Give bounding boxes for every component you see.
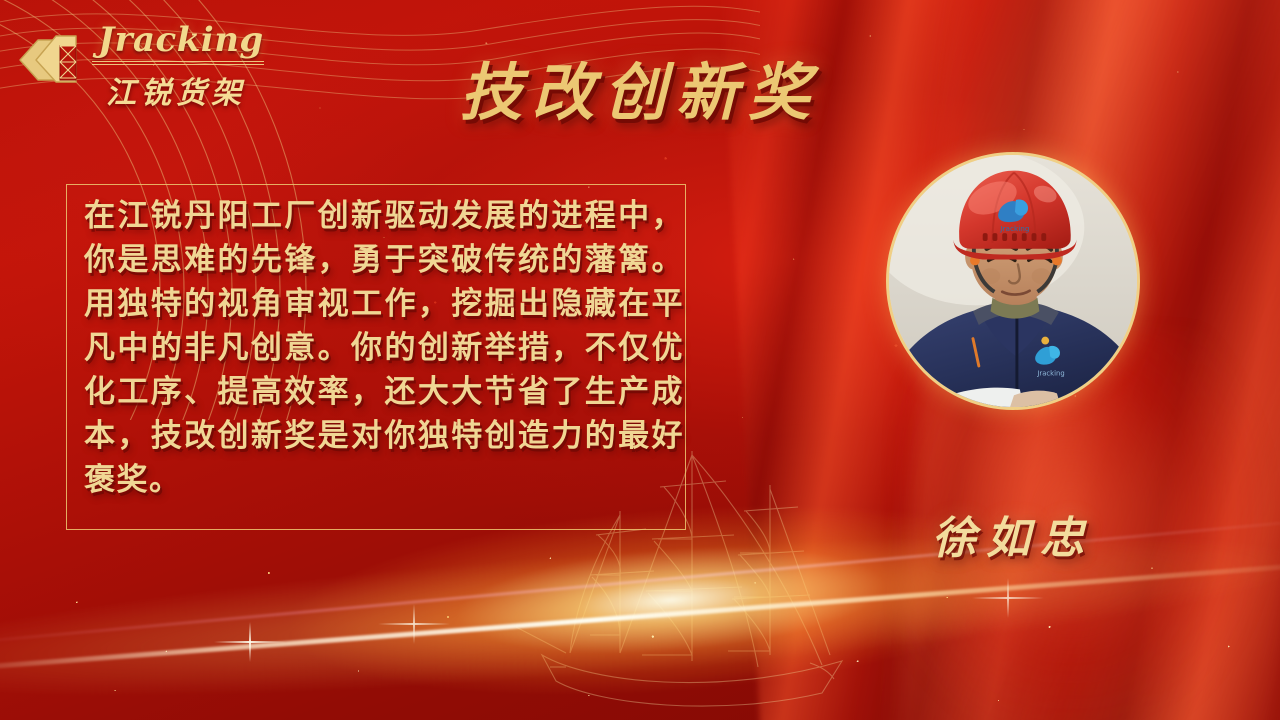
award-certificate-slide: Jracking 江锐货架 技改创新奖 在江锐丹阳工厂创新驱动发展的进程中，你是… [0, 0, 1280, 720]
recipient-name: 徐如忠 [886, 502, 1140, 566]
svg-text:Jracking: Jracking [1036, 370, 1064, 378]
portrait-photo: Jracking [889, 155, 1137, 407]
award-title: 技改创新奖 [0, 42, 1280, 132]
recipient-portrait: Jracking [886, 152, 1140, 410]
citation-text: 在江锐丹阳工厂创新驱动发展的进程中，你是思难的先锋，勇于突破传统的藩篱。用独特的… [84, 194, 684, 502]
svg-text:Jracking: Jracking [999, 224, 1029, 233]
